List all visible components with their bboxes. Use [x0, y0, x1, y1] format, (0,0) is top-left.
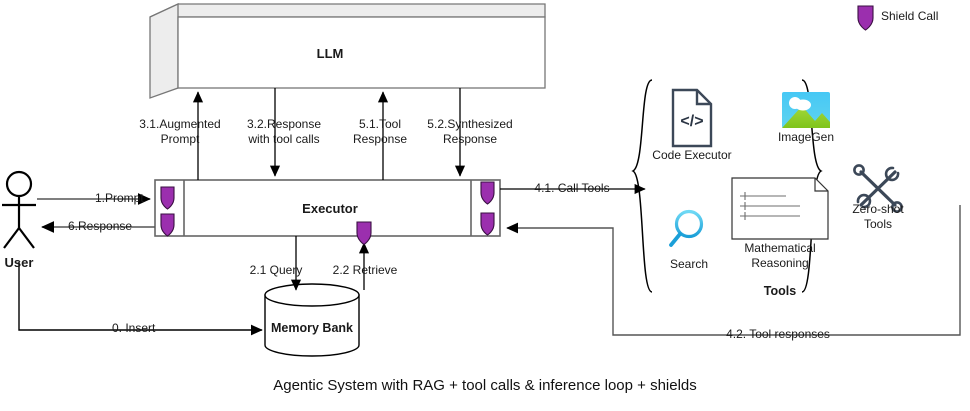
shield-icon-memory — [357, 222, 371, 245]
diagram-caption: Agentic System with RAG + tool calls & i… — [273, 377, 697, 394]
edge-label-synth-response-line2: Response — [443, 133, 497, 146]
shield-icon-legend — [858, 6, 873, 30]
tool-label-math-line1[interactable]: Mathematical — [744, 242, 815, 255]
edge-label-augmented-prompt-line2: Prompt — [161, 133, 200, 146]
executor-label: Executor — [302, 202, 358, 215]
svg-text:</>: </> — [680, 113, 703, 130]
edge-label-call-tools: 4.1. Call Tools — [534, 182, 609, 195]
edge-label-query: 2.1 Query — [250, 264, 303, 277]
tool-label-imagegen[interactable]: ImageGen — [778, 131, 834, 144]
tool-label-zero-shot-line1[interactable]: Zero-shot — [852, 203, 903, 216]
tool-label-zero-shot-line2[interactable]: Tools — [864, 218, 892, 231]
edge-label-tool-response-line2: Response — [353, 133, 407, 146]
edge-label-response: 6.Response — [68, 220, 132, 233]
magnifier-icon — [671, 212, 702, 246]
tool-label-code-executor[interactable]: Code Executor — [652, 149, 731, 162]
memory-bank-label: Memory Bank — [271, 322, 353, 335]
user-label: User — [5, 256, 34, 269]
edge-label-insert: 0. Insert — [112, 322, 155, 335]
tool-label-math-line2[interactable]: Reasoning — [751, 257, 808, 270]
formula-document-icon — [732, 178, 828, 239]
edge-label-tool-responses: 4.2. Tool responses — [726, 328, 830, 341]
llm-label: LLM — [317, 47, 344, 60]
edge-label-response-tool-calls-line2: with tool calls — [248, 133, 319, 146]
diagram-vector-layer: </> — [0, 0, 970, 411]
edge-insert — [19, 262, 262, 330]
image-icon — [782, 92, 830, 128]
legend-label: Shield Call — [881, 10, 938, 23]
edge-label-response-tool-calls-line1: 3.2.Response — [247, 118, 321, 131]
llm-executor-edges — [198, 88, 460, 180]
edge-label-prompt: 1.Prompt — [95, 192, 144, 205]
edge-label-tool-response-line1: 5.1.Tool — [359, 118, 401, 131]
llm-node[interactable] — [150, 4, 545, 98]
tools-left-brace — [633, 80, 652, 292]
edge-label-retrieve: 2.2 Retrieve — [333, 264, 398, 277]
edge-label-augmented-prompt-line1: 3.1.Augmented — [139, 118, 220, 131]
tools-group-label: Tools — [764, 285, 796, 298]
tool-label-search[interactable]: Search — [670, 258, 708, 271]
code-document-icon: </> — [673, 90, 711, 146]
diagram-canvas: </> — [0, 0, 970, 411]
memory-bank-node[interactable] — [265, 284, 359, 356]
edge-label-synth-response-line1: 5.2.Synthesized — [427, 118, 512, 131]
user-node[interactable] — [2, 172, 36, 248]
